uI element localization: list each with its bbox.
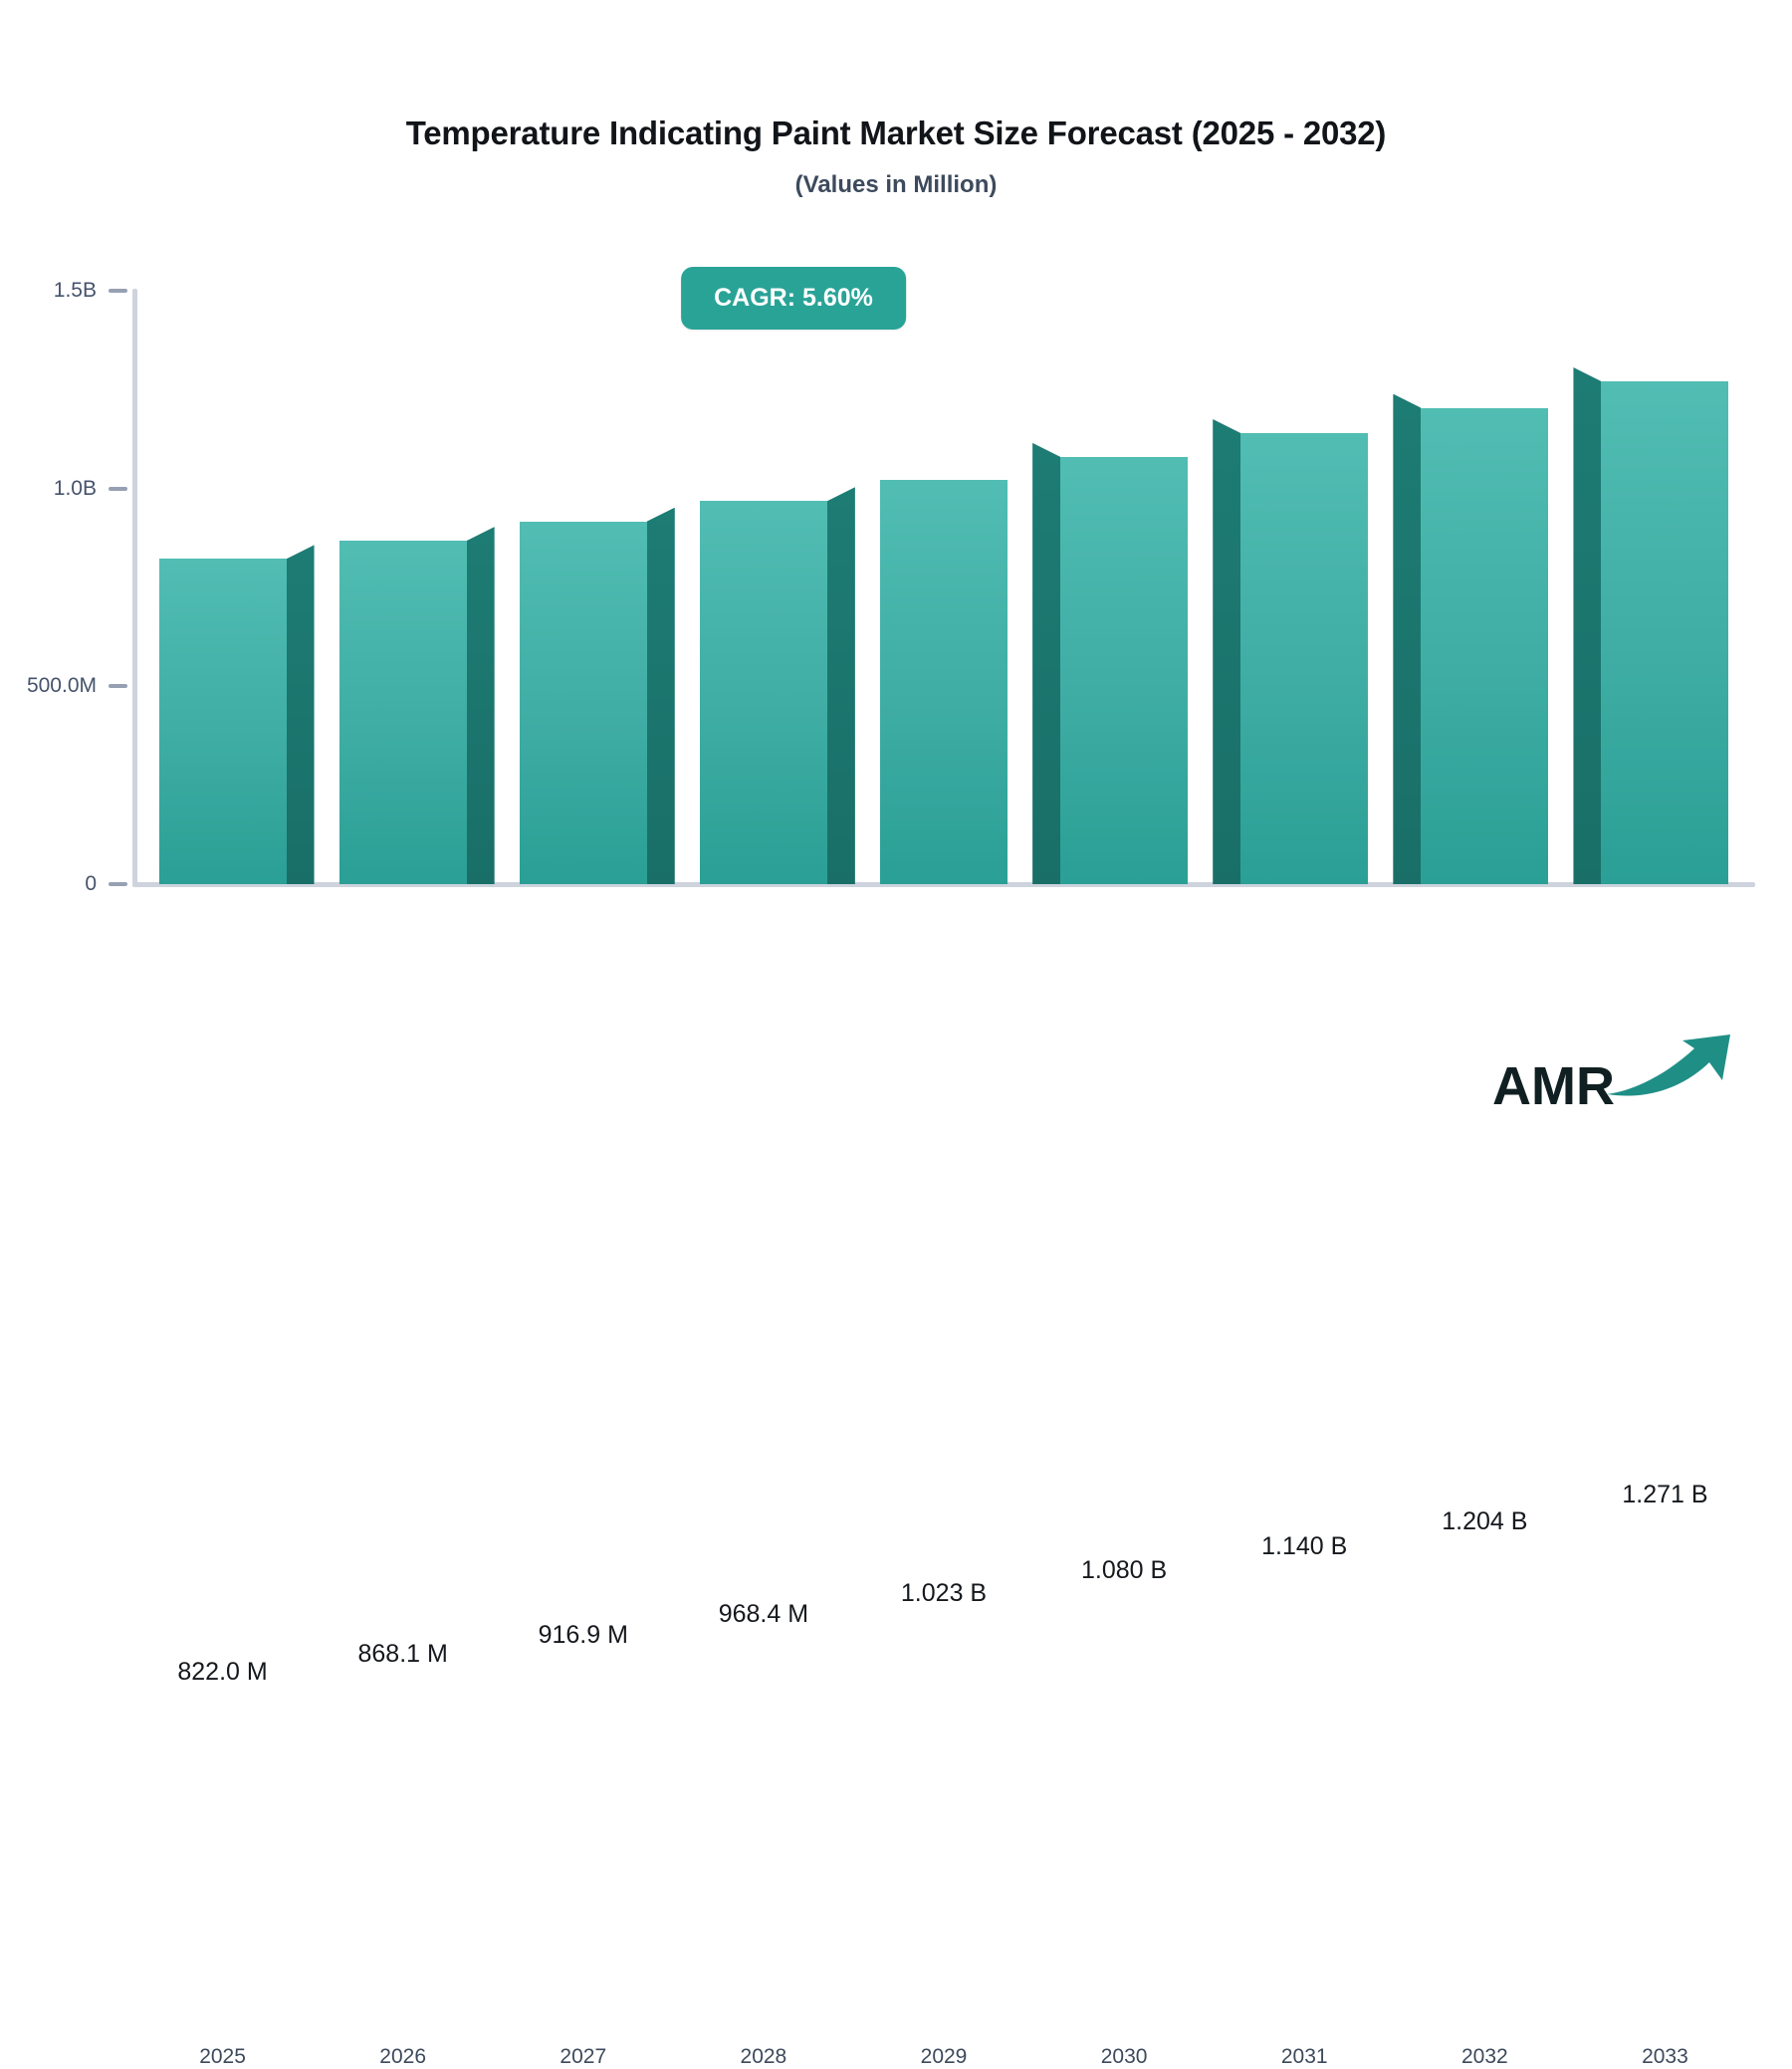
bar-front-face [520,522,647,884]
bar-side-face [647,508,675,884]
amr-wordmark: AMR [1492,1059,1615,1113]
bar-side-face [1032,443,1060,884]
bar-side-face [287,545,315,884]
growth-arrow-icon [1603,1033,1740,1107]
bar-front-face [880,480,1008,884]
bar-front-face [700,501,827,884]
bar-front-face [1421,408,1548,884]
bar-side-face [1393,394,1421,884]
bar-front-face [1060,457,1188,884]
x-axis-tick-label: 2030 [1034,2045,1214,2069]
x-axis-tick-label: 2025 [133,2045,313,2069]
x-axis-tick-label: 2033 [1575,2045,1754,2069]
bar-side-face [1573,367,1601,884]
bar-value-label: 1.271 B [1525,1481,1792,1509]
x-axis-tick-label: 2031 [1215,2045,1394,2069]
bar-front-face [1601,381,1728,884]
bar-value-label: 1.204 B [1345,1507,1624,1536]
bar-front-face [159,559,287,884]
bar-front-face [339,541,467,884]
bar-value-label: 1.140 B [1165,1532,1444,1561]
bar-side-face [467,527,495,884]
x-axis-tick-label: 2026 [314,2045,493,2069]
x-axis-tick-label: 2029 [854,2045,1033,2069]
x-axis-tick-label: 2027 [494,2045,673,2069]
bar-front-face [1240,433,1368,884]
x-axis-tick-label: 2032 [1395,2045,1574,2069]
bar-series: 822.0 M2025868.1 M2026916.9 M2027968.4 M… [0,0,1792,1151]
bar-side-face [1213,419,1240,884]
x-axis-tick-label: 2028 [674,2045,853,2069]
bar-side-face [827,487,855,884]
amr-logo: AMR [1492,1033,1740,1113]
